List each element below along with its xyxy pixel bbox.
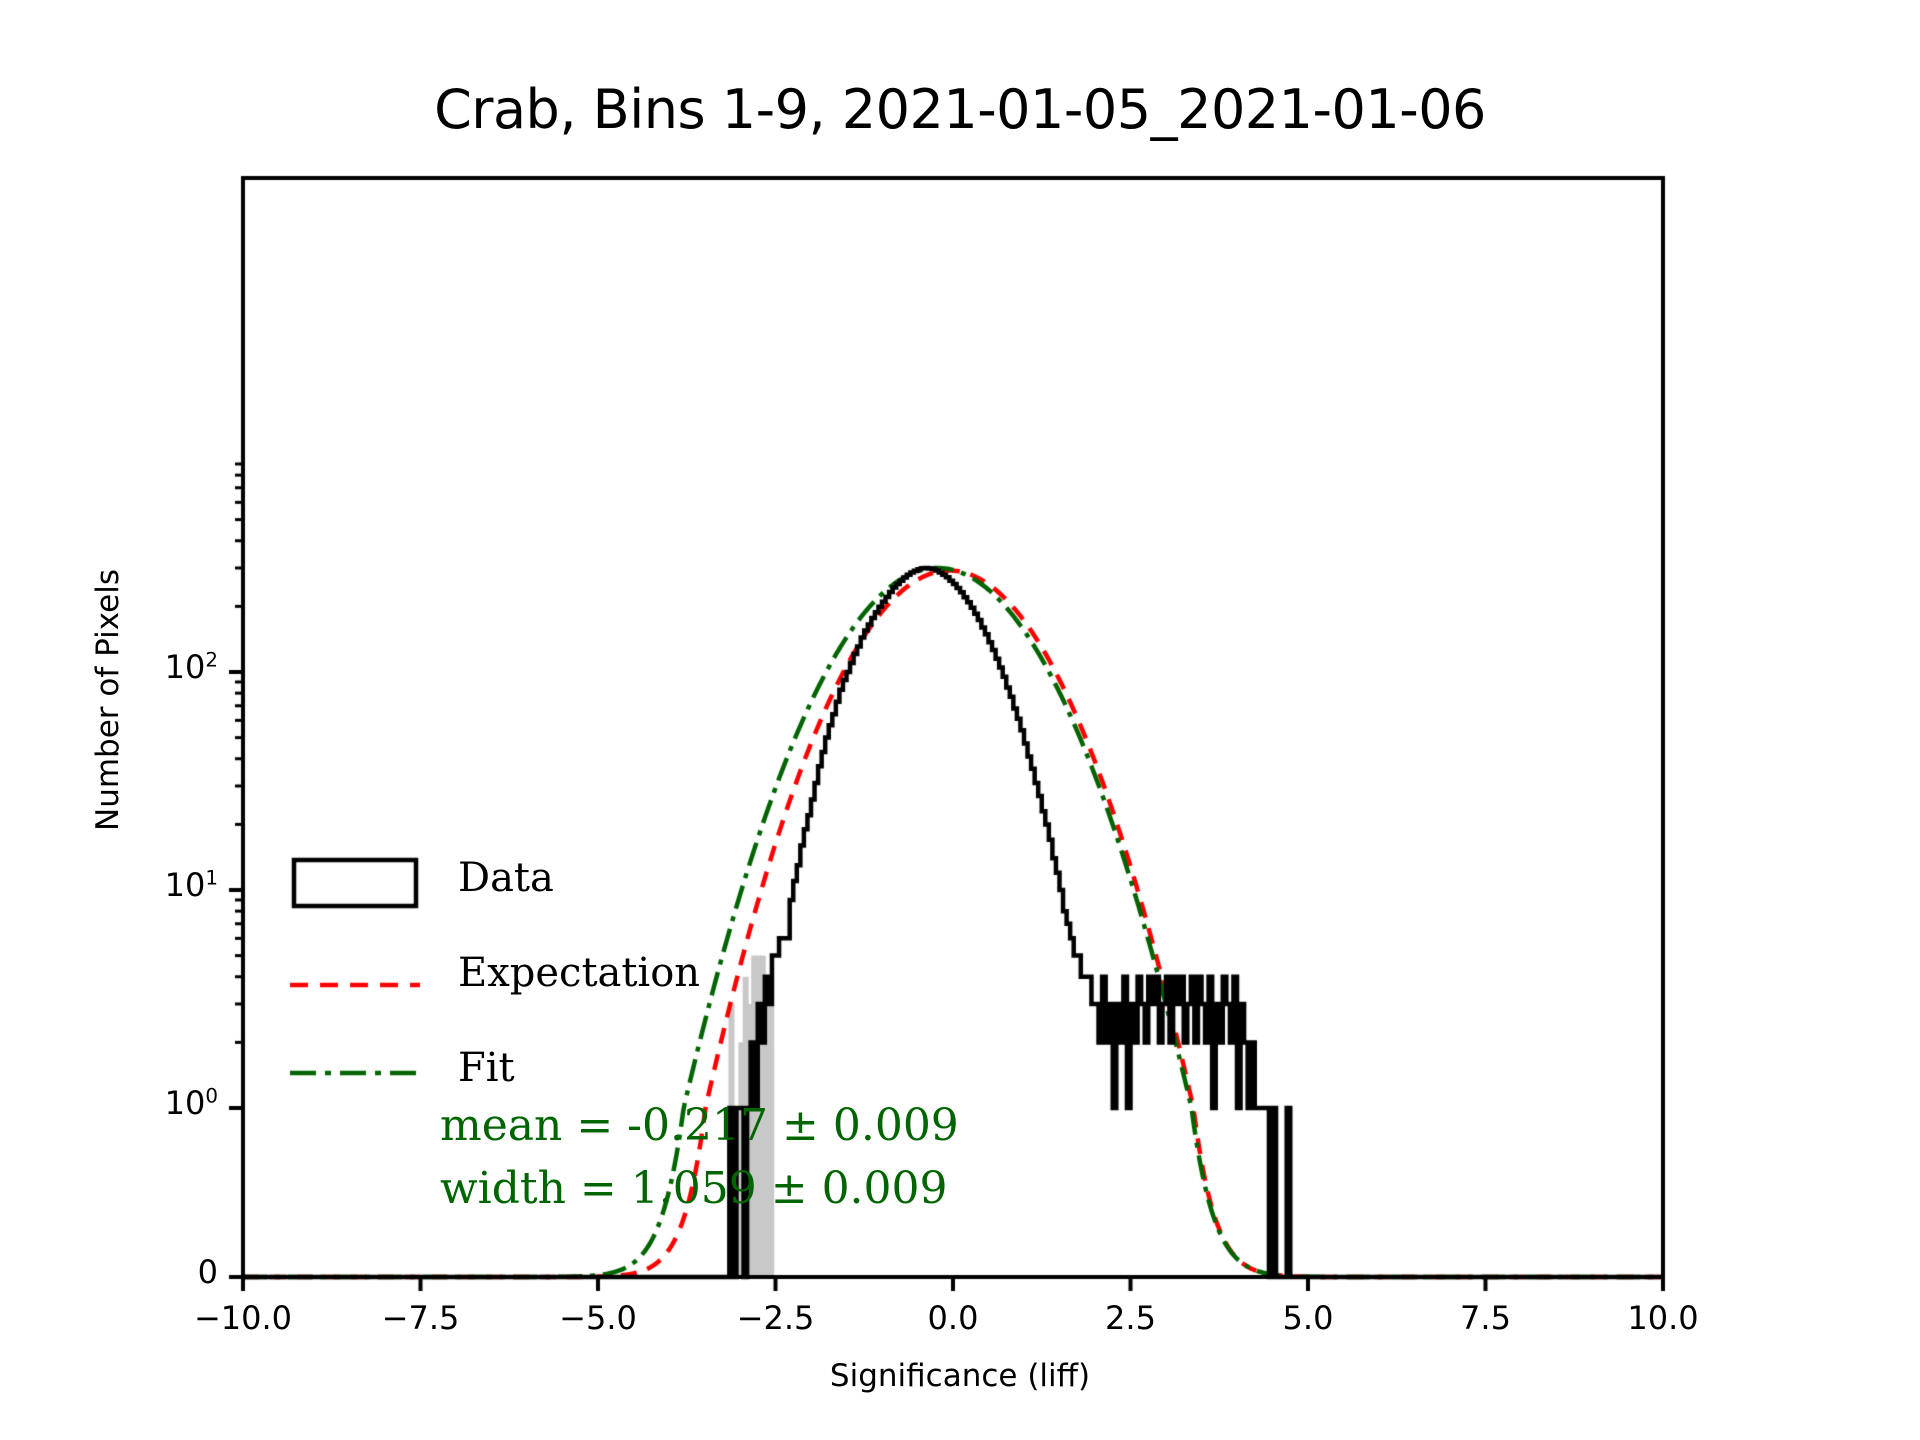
fit-mean-annotation: mean = -0.217 ± 0.009 — [440, 1100, 959, 1151]
x-tick-label: −10.0 — [143, 1299, 343, 1337]
legend-entry-data-label: Data — [458, 855, 554, 901]
x-tick-label: −2.5 — [676, 1299, 876, 1337]
y-tick-label: 102 — [3, 648, 218, 686]
legend-entry-expectation-label: Expectation — [458, 950, 700, 996]
x-axis-label: Significance (liff) — [0, 1358, 1920, 1394]
x-tick-label: 7.5 — [1386, 1299, 1586, 1337]
fit-width-annotation: width = 1.059 ± 0.009 — [440, 1163, 948, 1214]
x-tick-label: 10.0 — [1563, 1299, 1763, 1337]
y-tick-label: 101 — [3, 866, 218, 904]
y-tick-label: 100 — [3, 1084, 218, 1122]
x-tick-label: 2.5 — [1031, 1299, 1231, 1337]
x-tick-label: −7.5 — [321, 1299, 521, 1337]
legend-entry-fit-label: Fit — [458, 1045, 515, 1091]
x-tick-label: 5.0 — [1208, 1299, 1408, 1337]
y-axis-label: Number of Pixels — [90, 350, 126, 1050]
significance-histogram-plot — [0, 0, 1920, 1440]
page-title: Crab, Bins 1-9, 2021-01-05_2021-01-06 — [0, 78, 1920, 141]
x-tick-label: 0.0 — [853, 1299, 1053, 1337]
x-tick-label: −5.0 — [498, 1299, 698, 1337]
y-tick-label: 0 — [3, 1253, 218, 1291]
figure-canvas-container: Crab, Bins 1-9, 2021-01-05_2021-01-06 Si… — [0, 0, 1920, 1440]
